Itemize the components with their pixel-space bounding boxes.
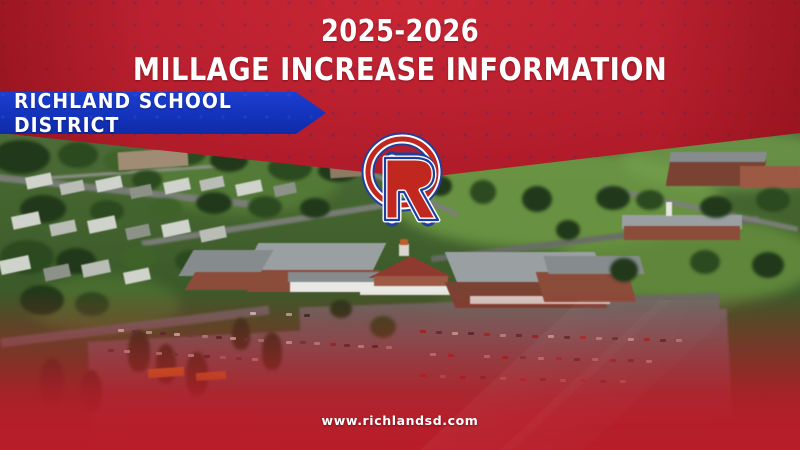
parked-car (484, 355, 490, 358)
parked-car (188, 354, 194, 357)
conifer-tree (156, 344, 176, 384)
parked-car (258, 339, 264, 342)
parked-car (628, 359, 634, 362)
parked-car (244, 338, 250, 341)
parked-car (516, 334, 522, 337)
tree (150, 198, 182, 218)
annex-steeple (666, 202, 672, 216)
parked-car (156, 352, 162, 355)
parked-car (610, 359, 616, 362)
parked-car (484, 333, 490, 336)
parked-car (580, 336, 586, 339)
parked-car (204, 355, 210, 358)
parked-car (532, 335, 538, 338)
parked-car (286, 341, 292, 344)
parked-car (174, 333, 180, 336)
tree (470, 180, 496, 204)
parked-car (300, 341, 306, 344)
parked-car (188, 334, 194, 337)
secondary-school-building (740, 166, 800, 188)
parked-car (460, 376, 466, 379)
parked-car (420, 374, 426, 377)
parked-car (600, 380, 606, 383)
tree (752, 252, 784, 278)
tree (300, 198, 330, 218)
parked-car (644, 338, 650, 341)
parked-car (564, 336, 570, 339)
tree (636, 190, 664, 210)
tree (75, 292, 109, 316)
parked-car (268, 313, 274, 316)
parked-car (540, 378, 546, 381)
annex-wall (624, 226, 740, 240)
tree (58, 142, 98, 168)
parked-car (628, 338, 634, 341)
tree (700, 196, 732, 218)
parked-car (440, 375, 446, 378)
parked-car (202, 335, 208, 338)
parked-car (386, 346, 392, 349)
parked-car (344, 344, 350, 347)
parked-car (468, 332, 474, 335)
school-year-title: 2025-2026 (56, 16, 744, 47)
parked-car (580, 379, 586, 382)
conifer-tree (40, 358, 64, 404)
parked-car (596, 337, 602, 340)
parked-car (172, 353, 178, 356)
parked-car (574, 358, 580, 361)
school-building-wall (185, 272, 269, 290)
tree (690, 250, 720, 274)
parked-car (430, 353, 436, 356)
parked-car (272, 340, 278, 343)
parked-car (216, 336, 222, 339)
parked-car (358, 345, 364, 348)
parked-car (466, 354, 472, 357)
tree (120, 245, 156, 269)
parked-car (420, 330, 426, 333)
parked-car (236, 357, 242, 360)
parked-car (548, 335, 554, 338)
district-name-ribbon: RICHLAND SCHOOL DISTRICT (0, 92, 326, 134)
headline-title: MILLAGE INCREASE INFORMATION (48, 54, 752, 86)
parked-car (436, 331, 442, 334)
parked-car (132, 330, 138, 333)
parked-car (520, 378, 526, 381)
parked-car (560, 379, 566, 382)
tree (20, 285, 64, 315)
secondary-school-roof (669, 152, 767, 162)
conifer-tree (128, 330, 150, 372)
cupola-roof (400, 239, 408, 245)
parked-car (252, 358, 258, 361)
conifer-tree (262, 332, 282, 370)
conifer-tree (80, 370, 102, 412)
district-name-label: RICHLAND SCHOOL DISTRICT (14, 89, 307, 137)
parked-car (230, 337, 236, 340)
parked-car (160, 332, 166, 335)
parked-car (592, 358, 598, 361)
tree (248, 196, 282, 218)
parked-car (250, 312, 256, 315)
parked-car (660, 339, 666, 342)
parked-car (500, 377, 506, 380)
parked-car (480, 376, 486, 379)
district-logo (352, 128, 456, 232)
parked-car (538, 357, 544, 360)
parked-car (146, 331, 152, 334)
parked-car (500, 334, 506, 337)
parked-car (140, 351, 146, 354)
tree (610, 258, 638, 282)
tree (370, 316, 396, 338)
parked-car (286, 313, 292, 316)
parked-car (612, 337, 618, 340)
parked-car (452, 332, 458, 335)
tree (330, 300, 352, 318)
tree (596, 186, 630, 210)
parked-car (220, 356, 226, 359)
parked-car (412, 352, 418, 355)
parked-car (108, 349, 114, 352)
parked-car (676, 339, 682, 342)
parked-car (330, 343, 336, 346)
parked-car (620, 380, 626, 383)
tree (756, 188, 790, 212)
header-titles: 2025-2026 MILLAGE INCREASE INFORMATION (0, 0, 800, 86)
parked-car (304, 314, 310, 317)
parked-car (520, 356, 526, 359)
parked-car (448, 354, 454, 357)
tree (196, 192, 232, 214)
parked-car (502, 356, 508, 359)
flyer-graphic: 2025-2026 MILLAGE INCREASE INFORMATION R… (0, 0, 800, 450)
parked-car (372, 345, 378, 348)
website-url[interactable]: www.richlandsd.com (0, 413, 800, 428)
parked-car (124, 350, 130, 353)
parked-car (556, 357, 562, 360)
tree (522, 186, 552, 212)
parked-car (314, 342, 320, 345)
tree (556, 220, 580, 240)
conifer-tree (232, 318, 250, 350)
parked-car (118, 329, 124, 332)
cupola (399, 244, 409, 256)
parked-car (646, 360, 652, 363)
